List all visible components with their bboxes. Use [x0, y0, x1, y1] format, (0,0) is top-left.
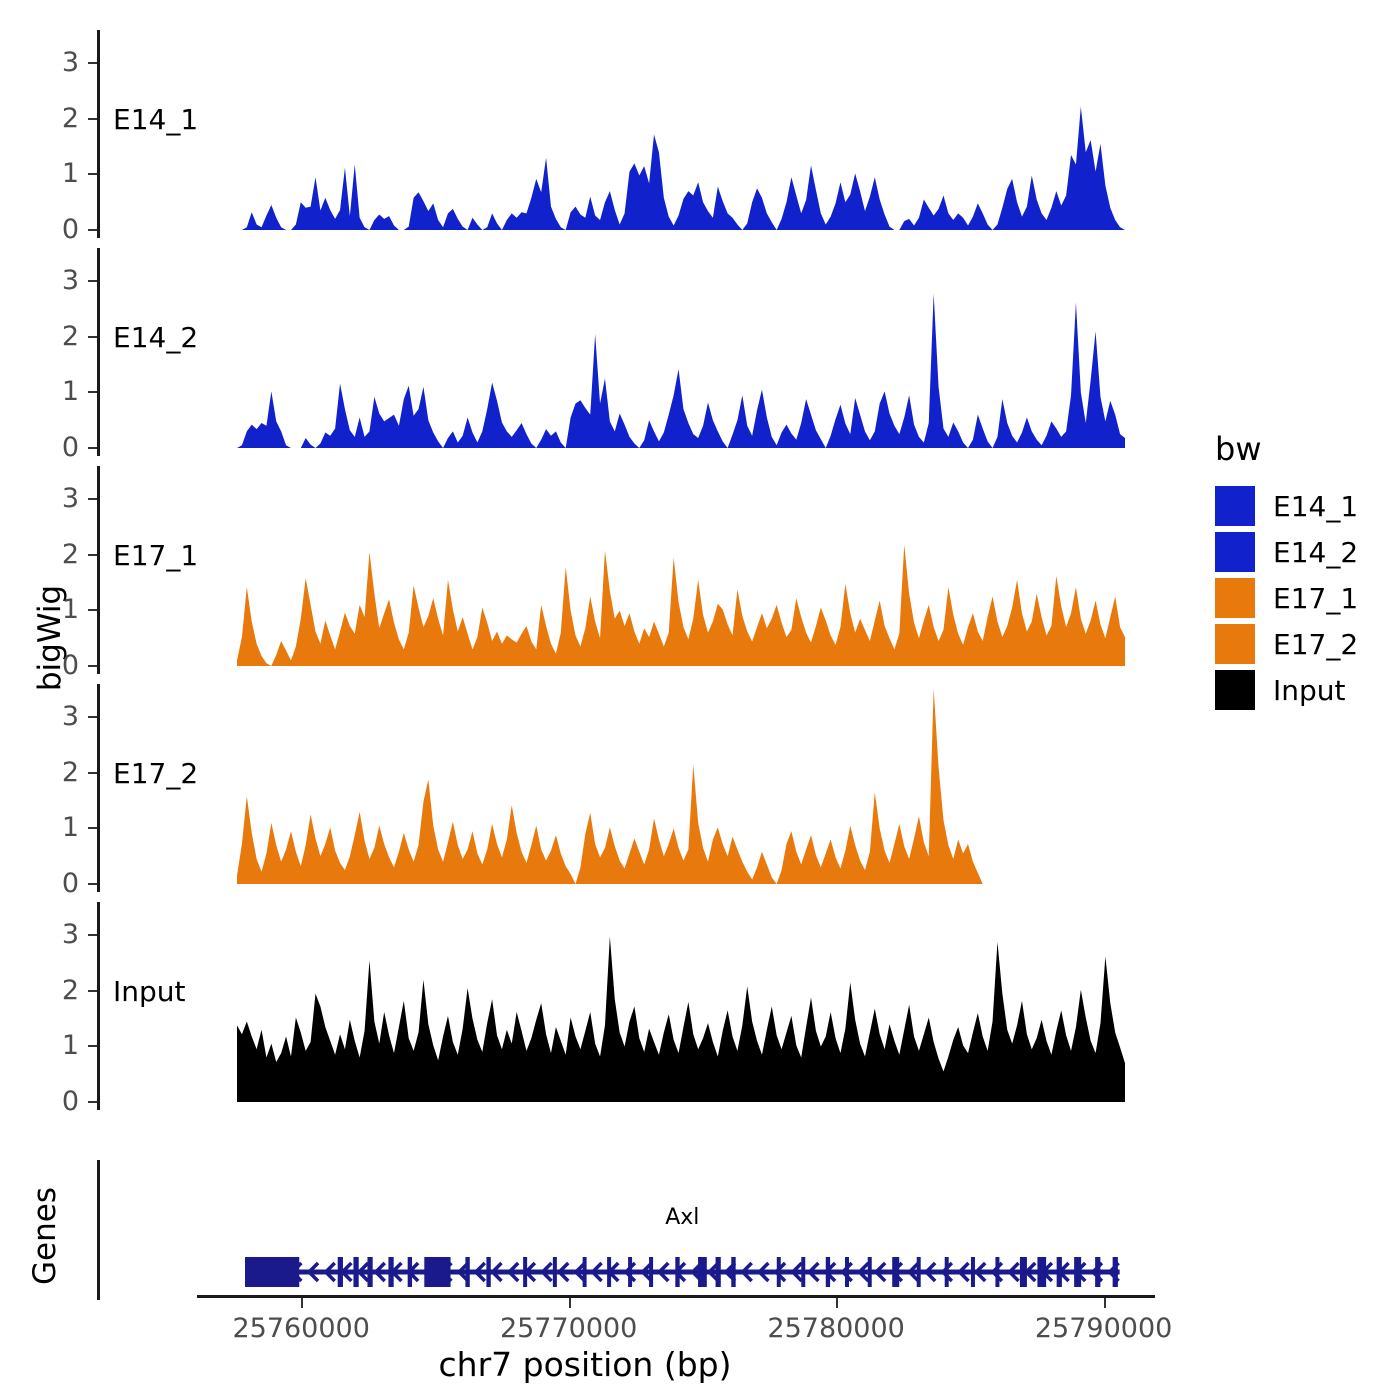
- panel-label-input: Input: [113, 975, 186, 1008]
- y-tick-label: 0: [39, 434, 79, 461]
- y-tick-mark: [88, 280, 97, 282]
- legend-item-e17_2[interactable]: E17_2: [1215, 624, 1358, 664]
- y-tick-label: 3: [39, 485, 79, 512]
- x-tick-label: 25790000: [1035, 1313, 1172, 1344]
- track-area-e17_2: [237, 684, 1125, 884]
- y-tick-label: 1: [39, 814, 79, 841]
- gene-name-label: Axl: [665, 1205, 699, 1230]
- y-axis-line-e14_2: [97, 248, 100, 456]
- y-tick-mark: [88, 336, 97, 338]
- y-tick-label: 2: [39, 105, 79, 132]
- y-tick-label: 2: [39, 759, 79, 786]
- y-tick-mark: [88, 883, 97, 885]
- y-tick-mark: [88, 665, 97, 667]
- y-tick-mark: [88, 609, 97, 611]
- y-tick-mark: [88, 1101, 97, 1103]
- y-tick-label: 0: [39, 652, 79, 679]
- y-axis-group-label: bigWig: [32, 558, 68, 718]
- x-axis-title: chr7 position (bp): [0, 1345, 1170, 1384]
- legend-item-e14_2[interactable]: E14_2: [1215, 532, 1358, 572]
- x-tick-mark: [301, 1298, 303, 1308]
- legend-label: E14_2: [1273, 536, 1358, 569]
- legend-label: E14_1: [1273, 490, 1358, 523]
- legend-swatch-e17_2: [1215, 624, 1255, 664]
- y-tick-label: 1: [39, 1032, 79, 1059]
- y-tick-label: 2: [39, 541, 79, 568]
- legend-label: E17_1: [1273, 582, 1358, 615]
- legend-swatch-e17_1: [1215, 578, 1255, 618]
- y-tick-mark: [88, 447, 97, 449]
- y-tick-mark: [88, 173, 97, 175]
- y-tick-label: 1: [39, 596, 79, 623]
- x-tick-mark: [836, 1298, 838, 1308]
- gene-panel-axis-line: [97, 1160, 100, 1300]
- x-tick-mark: [1104, 1298, 1106, 1308]
- genome-browser-figure: bigWig Genes 0123E14_10123E14_20123E17_1…: [0, 0, 1400, 1400]
- legend-label: E17_2: [1273, 628, 1358, 661]
- y-tick-mark: [88, 498, 97, 500]
- track-area-input: [237, 902, 1125, 1102]
- y-tick-mark: [88, 554, 97, 556]
- panel-label-e17_1: E17_1: [113, 539, 198, 572]
- x-tick-label: 25760000: [232, 1313, 369, 1344]
- y-tick-mark: [88, 1045, 97, 1047]
- y-tick-mark: [88, 772, 97, 774]
- y-tick-label: 1: [39, 160, 79, 187]
- legend-label: Input: [1273, 674, 1346, 707]
- y-tick-label: 0: [39, 1088, 79, 1115]
- legend-item-input[interactable]: Input: [1215, 670, 1346, 710]
- y-tick-mark: [88, 827, 97, 829]
- panel-label-e17_2: E17_2: [113, 757, 198, 790]
- y-tick-mark: [88, 229, 97, 231]
- legend: bw E14_1E14_2E17_1E17_2Input: [1205, 430, 1400, 690]
- x-tick-mark: [569, 1298, 571, 1308]
- y-axis-line-e17_1: [97, 466, 100, 674]
- y-tick-label: 3: [39, 49, 79, 76]
- y-tick-mark: [88, 391, 97, 393]
- track-area-e14_2: [237, 248, 1125, 448]
- y-axis-line-e14_1: [97, 30, 100, 238]
- y-tick-label: 3: [39, 703, 79, 730]
- y-tick-mark: [88, 716, 97, 718]
- legend-swatch-e14_2: [1215, 532, 1255, 572]
- y-tick-label: 2: [39, 977, 79, 1004]
- y-axis-line-e17_2: [97, 684, 100, 892]
- legend-swatch-e14_1: [1215, 486, 1255, 526]
- x-tick-label: 25780000: [767, 1313, 904, 1344]
- track-area-e17_1: [237, 466, 1125, 666]
- y-tick-label: 0: [39, 870, 79, 897]
- panel-label-e14_2: E14_2: [113, 321, 198, 354]
- y-tick-mark: [88, 62, 97, 64]
- y-tick-mark: [88, 934, 97, 936]
- x-axis-line: [197, 1295, 1155, 1298]
- y-tick-label: 3: [39, 267, 79, 294]
- y-tick-mark: [88, 990, 97, 992]
- legend-swatch-input: [1215, 670, 1255, 710]
- legend-item-e14_1[interactable]: E14_1: [1215, 486, 1358, 526]
- legend-item-e17_1[interactable]: E17_1: [1215, 578, 1358, 618]
- genes-group-label: Genes: [27, 1156, 63, 1316]
- legend-title: bw: [1215, 430, 1261, 468]
- track-area-e14_1: [237, 30, 1125, 230]
- panel-label-e14_1: E14_1: [113, 103, 198, 136]
- y-tick-label: 1: [39, 378, 79, 405]
- y-axis-line-input: [97, 902, 100, 1110]
- y-tick-label: 3: [39, 921, 79, 948]
- y-tick-label: 0: [39, 216, 79, 243]
- x-tick-label: 25770000: [500, 1313, 637, 1344]
- y-tick-label: 2: [39, 323, 79, 350]
- y-tick-mark: [88, 118, 97, 120]
- gene-model-axl[interactable]: [245, 1255, 1130, 1289]
